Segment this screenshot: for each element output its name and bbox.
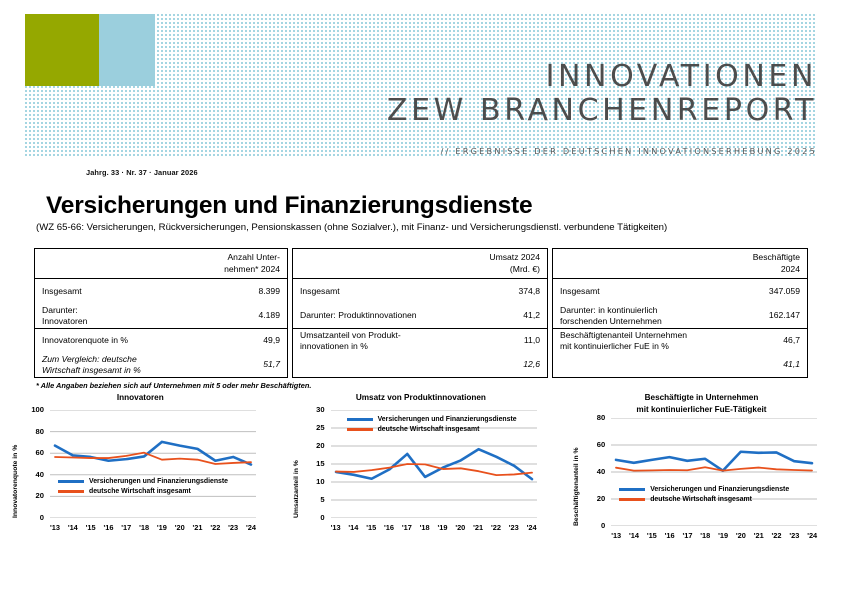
table-header-line2: 2024 xyxy=(560,264,800,276)
table-header-line2: (Mrd. €) xyxy=(300,264,540,276)
table-footnote: * Alle Angaben beziehen sich auf Unterne… xyxy=(36,381,311,390)
chart-legend-item: Versicherungen und Finanzierungsdienste xyxy=(347,416,517,423)
chart-y-tick-label: 40 xyxy=(577,467,605,476)
table-cell-label: Insgesamt xyxy=(300,286,340,297)
table-cell-label: Innovatorenquote in % xyxy=(42,335,128,346)
chart-y-tick-label: 5 xyxy=(297,495,325,504)
chart-innovatoren: InnovatorenInnovatorenquote in %02040608… xyxy=(0,392,281,582)
table-row: 41,1 xyxy=(553,352,807,377)
table-cell-value: 46,7 xyxy=(777,335,800,346)
chart-legend-swatch xyxy=(58,480,84,483)
table-cell-label-line2: innovationen in % xyxy=(300,341,401,352)
chart-series-line xyxy=(616,452,812,471)
table-row: Darunter: Produktinnovationen 41,2 xyxy=(293,303,547,328)
header-title-group: INNOVATIONEN ZEW BRANCHENREPORT xyxy=(387,62,817,126)
table-row: Insgesamt 374,8 xyxy=(293,279,547,303)
page-subtitle: (WZ 65-66: Versicherungen, Rückversicher… xyxy=(36,222,667,233)
table-row: Umsatzanteil von Produkt- innovationen i… xyxy=(293,328,547,352)
chart-legend-label: deutsche Wirtschaft insgesamt xyxy=(650,496,752,503)
chart-x-tick-label: '24 xyxy=(801,531,823,540)
table-cell-label-line2: Innovatoren xyxy=(42,316,87,327)
chart-legend-label: deutsche Wirtschaft insgesamt xyxy=(89,488,191,495)
chart-legend: Versicherungen und Finanzierungsdiensted… xyxy=(619,486,789,506)
chart-legend-item: deutsche Wirtschaft insgesamt xyxy=(619,496,789,503)
table-cell-value: 51,7 xyxy=(257,359,280,370)
chart-y-tick-label: 0 xyxy=(577,521,605,530)
chart-legend-swatch xyxy=(347,418,373,421)
chart-y-tick-label: 15 xyxy=(297,459,325,468)
chart-legend-swatch xyxy=(619,488,645,491)
table-header-line1: Umsatz 2024 xyxy=(300,252,540,264)
table-row: Innovatorenquote in % 49,9 xyxy=(35,328,287,352)
table-cell-value: 49,9 xyxy=(257,335,280,346)
chart-legend-item: Versicherungen und Finanzierungsdienste xyxy=(619,486,789,493)
chart-y-tick-label: 25 xyxy=(297,423,325,432)
chart-plot-area xyxy=(50,410,256,518)
table-header-unternehmen: Anzahl Unter- nehmen* 2024 xyxy=(35,249,287,279)
chart-legend-item: deutsche Wirtschaft insgesamt xyxy=(347,426,517,433)
table-row: Insgesamt 8.399 xyxy=(35,279,287,303)
header-title-branchenreport: ZEW BRANCHENREPORT xyxy=(387,96,817,126)
table-cell-value: 4.189 xyxy=(252,310,280,321)
header-subtitle: // ERGEBNISSE DER DEUTSCHEN INNOVATIONSE… xyxy=(441,146,817,156)
table-header-beschaeftigte: Beschäftigte 2024 xyxy=(553,249,807,279)
table-cell-value: 41,1 xyxy=(777,359,800,370)
table-cell-value: 12,6 xyxy=(517,359,540,370)
chart-legend-label: deutsche Wirtschaft insgesamt xyxy=(378,426,480,433)
chart-legend-swatch xyxy=(58,490,84,492)
chart-legend-swatch xyxy=(347,428,373,430)
table-column-beschaeftigte: Beschäftigte 2024 Insgesamt 347.059 Daru… xyxy=(552,248,808,378)
summary-table: Anzahl Unter- nehmen* 2024 Insgesamt 8.3… xyxy=(34,248,808,378)
chart-legend: Versicherungen und Finanzierungsdiensted… xyxy=(58,478,228,498)
table-cell-label: Darunter: in kontinuierlich forschenden … xyxy=(560,305,662,327)
chart-y-tick-label: 40 xyxy=(16,470,44,479)
chart-y-tick-label: 60 xyxy=(577,440,605,449)
table-cell-value: 374,8 xyxy=(512,286,540,297)
table-cell-label-line1: Darunter: in kontinuierlich xyxy=(560,305,662,316)
chart-y-tick-label: 10 xyxy=(297,477,325,486)
table-cell-label: Darunter: Innovatoren xyxy=(42,305,87,327)
table-cell-label-line1: Beschäftigtenanteil Unternehmen xyxy=(560,330,687,341)
header-title-innovationen: INNOVATIONEN xyxy=(387,62,817,92)
chart-y-tick-label: 0 xyxy=(297,513,325,522)
chart-y-tick-label: 0 xyxy=(16,513,44,522)
table-cell-label-line1: Darunter: xyxy=(42,305,87,316)
chart-title-line1: Umsatz von Produktinnovationen xyxy=(356,393,486,402)
page-title: Versicherungen und Finanzierungsdienste xyxy=(46,192,532,220)
table-header-umsatz: Umsatz 2024 (Mrd. €) xyxy=(293,249,547,279)
chart-legend: Versicherungen und Finanzierungsdiensted… xyxy=(347,416,517,436)
chart-y-tick-label: 20 xyxy=(297,441,325,450)
table-cell-label-line1: Umsatzanteil von Produkt- xyxy=(300,330,401,341)
chart-legend-item: deutsche Wirtschaft insgesamt xyxy=(58,488,228,495)
table-column-umsatz: Umsatz 2024 (Mrd. €) Insgesamt 374,8 Dar… xyxy=(292,248,548,378)
page-header: INNOVATIONEN ZEW BRANCHENREPORT // ERGEB… xyxy=(0,0,842,160)
chart-legend-label: Versicherungen und Finanzierungsdienste xyxy=(650,486,789,493)
chart-y-tick-label: 20 xyxy=(16,491,44,500)
header-left-margin xyxy=(0,0,25,160)
table-cell-value: 347.059 xyxy=(763,286,800,297)
header-green-block xyxy=(25,14,99,86)
chart-legend-label: Versicherungen und Finanzierungsdienste xyxy=(89,478,228,485)
table-row: Beschäftigtenanteil Unternehmen mit kont… xyxy=(553,328,807,352)
chart-y-tick-label: 60 xyxy=(16,448,44,457)
table-cell-label-line1: Zum Vergleich: deutsche xyxy=(42,354,141,365)
chart-plot-area xyxy=(611,418,817,526)
table-header-line1: Beschäftigte xyxy=(560,252,800,264)
table-cell-value: 8.399 xyxy=(252,286,280,297)
chart-y-axis-label: Umsatzanteil in % xyxy=(293,460,300,518)
table-cell-label: Beschäftigtenanteil Unternehmen mit kont… xyxy=(560,330,687,352)
header-blue-block xyxy=(99,14,155,86)
chart-title-line1: Innovatoren xyxy=(117,393,164,402)
table-header-line1: Anzahl Unter- xyxy=(42,252,280,264)
table-header-line2: nehmen* 2024 xyxy=(42,264,280,276)
chart-title: Innovatoren xyxy=(0,392,281,404)
chart-y-tick-label: 100 xyxy=(16,405,44,414)
table-cell-value: 162.147 xyxy=(763,310,800,321)
table-cell-label-line2: Wirtschaft insgesamt in % xyxy=(42,365,141,376)
chart-beschaeftigte-fue: Beschäftigte in Unternehmenmit kontinuie… xyxy=(561,392,842,582)
chart-y-tick-label: 30 xyxy=(297,405,325,414)
table-cell-value: 11,0 xyxy=(518,335,540,346)
chart-y-tick-label: 20 xyxy=(577,494,605,503)
table-cell-label-line2: forschenden Unternehmen xyxy=(560,316,662,327)
chart-umsatz-produktinnovationen: Umsatz von ProduktinnovationenUmsatzante… xyxy=(281,392,562,582)
charts-row: InnovatorenInnovatorenquote in %02040608… xyxy=(0,392,842,582)
table-row: Darunter: in kontinuierlich forschenden … xyxy=(553,303,807,328)
table-row: Insgesamt 347.059 xyxy=(553,279,807,303)
table-row: Darunter: Innovatoren 4.189 xyxy=(35,303,287,328)
table-cell-label: Darunter: Produktinnovationen xyxy=(300,310,417,321)
chart-legend-label: Versicherungen und Finanzierungsdienste xyxy=(378,416,517,423)
table-cell-label: Insgesamt xyxy=(42,286,82,297)
table-cell-label: Insgesamt xyxy=(560,286,600,297)
chart-x-tick-label: '24 xyxy=(521,523,543,532)
table-row: Zum Vergleich: deutsche Wirtschaft insge… xyxy=(35,352,287,377)
chart-y-tick-label: 80 xyxy=(577,413,605,422)
table-cell-value: 41,2 xyxy=(517,310,540,321)
table-row: 12,6 xyxy=(293,352,547,377)
table-column-unternehmen: Anzahl Unter- nehmen* 2024 Insgesamt 8.3… xyxy=(34,248,288,378)
chart-y-axis-label: Beschäftigtenanteil in % xyxy=(573,447,580,526)
chart-x-tick-label: '24 xyxy=(240,523,262,532)
issue-line: Jahrg. 33 · Nr. 37 · Januar 2026 xyxy=(86,168,198,177)
table-cell-label: Zum Vergleich: deutsche Wirtschaft insge… xyxy=(42,354,141,376)
chart-title-line1: Beschäftigte in Unternehmen xyxy=(645,393,759,402)
chart-y-tick-label: 80 xyxy=(16,427,44,436)
chart-title: Umsatz von Produktinnovationen xyxy=(281,392,562,404)
table-cell-label: Umsatzanteil von Produkt- innovationen i… xyxy=(300,330,401,352)
table-cell-label-line2: mit kontinuierlicher FuE in % xyxy=(560,341,687,352)
chart-series-line xyxy=(616,467,812,470)
chart-legend-swatch xyxy=(619,498,645,500)
chart-legend-item: Versicherungen und Finanzierungsdienste xyxy=(58,478,228,485)
